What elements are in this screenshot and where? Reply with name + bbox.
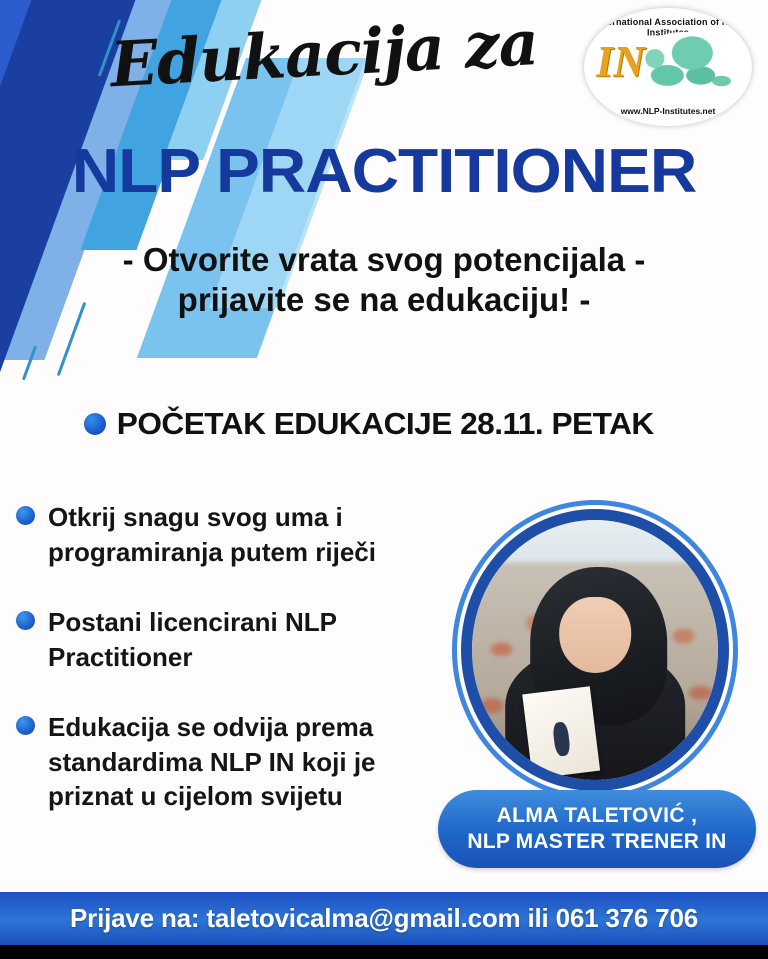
list-item: Edukacija se odvija prema standardima NL… (16, 710, 436, 814)
subtitle-line-2: prijavite se na edukaciju! - (40, 280, 728, 320)
start-date-text: POČETAK EDUKACIJE 28.11. PETAK (117, 406, 654, 442)
portrait-photo (472, 520, 718, 780)
trainer-role: NLP MASTER TRENER IN (467, 829, 726, 855)
bottom-black-strip (0, 945, 768, 959)
subtitle: - Otvorite vrata svog potencijala - prij… (40, 240, 728, 321)
bullet-dot-icon (16, 611, 35, 630)
list-item-label: Postani licencirani NLP Practitioner (48, 605, 436, 674)
logo-arc-bottom-text: www.NLP-Institutes.net (584, 106, 752, 116)
page-title: NLP PRACTITIONER (0, 136, 768, 207)
photo-person-face (559, 597, 631, 674)
trainer-name-badge: ALMA TALETOVIĆ , NLP MASTER TRENER IN (438, 790, 756, 868)
trainer-portrait (452, 500, 738, 800)
portrait-inner-ring (461, 509, 729, 791)
list-item-label: Otkrij snagu svog uma i programiranja pu… (48, 500, 436, 569)
bullet-dot-icon (16, 716, 35, 735)
list-item: Postani licencirani NLP Practitioner (16, 605, 436, 674)
photo-book (522, 687, 600, 780)
contact-text: Prijave na: taletovicalma@gmail.com ili … (70, 903, 698, 934)
nlp-institutes-logo: International Association of NLP Institu… (584, 8, 752, 126)
list-item: Otkrij snagu svog uma i programiranja pu… (16, 500, 436, 569)
subtitle-line-1: - Otvorite vrata svog potencijala - (40, 240, 728, 280)
list-item-label: Edukacija se odvija prema standardima NL… (48, 710, 436, 814)
benefits-list: Otkrij snagu svog uma i programiranja pu… (16, 500, 436, 850)
flyer-canvas: Edukacija za International Association o… (0, 0, 768, 959)
logo-monogram: IN (596, 36, 645, 87)
photo-person (505, 567, 685, 780)
bullet-dot-icon (16, 506, 35, 525)
start-date-line: POČETAK EDUKACIJE 28.11. PETAK (84, 406, 649, 442)
bullet-dot-icon (84, 413, 106, 435)
contact-footer-bar: Prijave na: taletovicalma@gmail.com ili … (0, 892, 768, 945)
globe-icon (632, 32, 736, 102)
trainer-name: ALMA TALETOVIĆ , (497, 803, 698, 829)
